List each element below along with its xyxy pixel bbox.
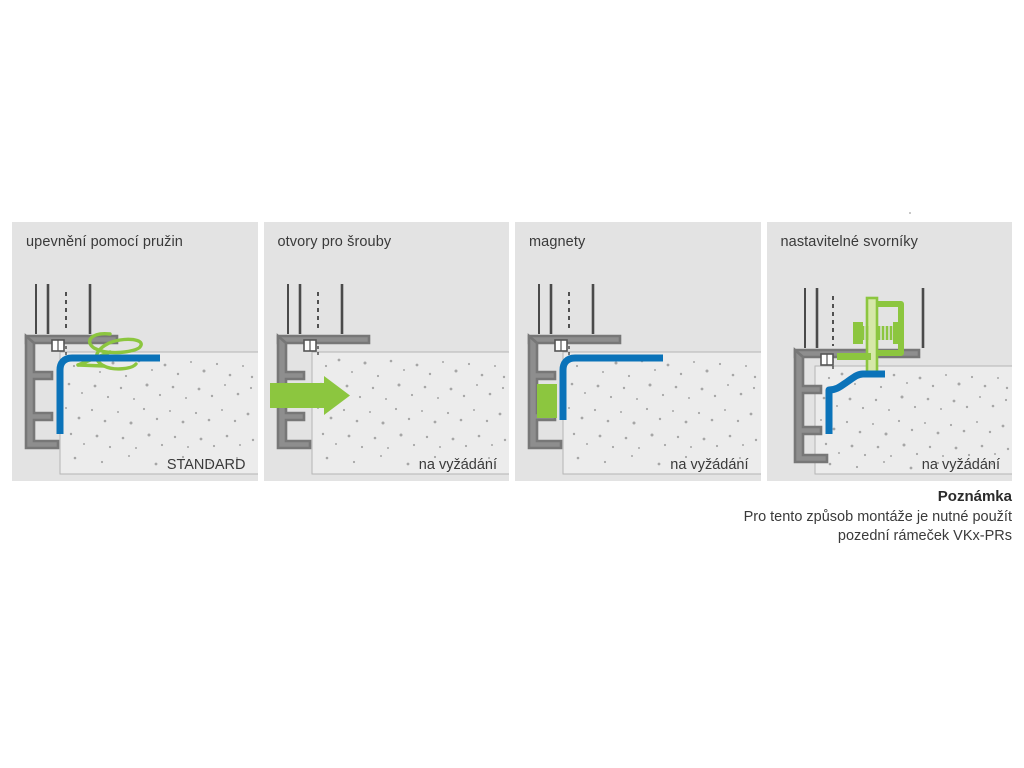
panel-magnets[interactable]: magnety bbox=[515, 222, 761, 481]
footnote-line-1: Pro tento způsob montáže je nutné použít bbox=[540, 508, 1012, 527]
footnote-title: Poznámka bbox=[540, 487, 1012, 507]
figure-screw-holes bbox=[264, 248, 510, 481]
footnote-block: Poznámka Pro tento způsob montáže je nut… bbox=[540, 487, 1012, 546]
panel-note: na vyžádání bbox=[922, 457, 1000, 473]
footnote-line-2: pozední rámeček VKx-PRs bbox=[540, 527, 1012, 546]
panel-adjustable-bolts[interactable]: nastavitelné svorníky bbox=[767, 222, 1013, 481]
panel-note: STANDARD bbox=[167, 457, 246, 473]
panel-note: na vyžádání bbox=[419, 457, 497, 473]
panel-strip: upevnění pomocí pružin bbox=[12, 222, 1012, 481]
diagram-canvas: upevnění pomocí pružin bbox=[0, 0, 1024, 768]
stray-dot-artifact bbox=[909, 212, 911, 214]
figure-magnets bbox=[515, 248, 761, 481]
figure-spring-mounting bbox=[12, 248, 258, 481]
panel-note: na vyžádání bbox=[670, 457, 748, 473]
panel-screw-holes[interactable]: otvory pro šrouby bbox=[264, 222, 510, 481]
figure-adjustable-bolts bbox=[767, 248, 1013, 481]
panel-spring-mounting[interactable]: upevnění pomocí pružin bbox=[12, 222, 258, 481]
